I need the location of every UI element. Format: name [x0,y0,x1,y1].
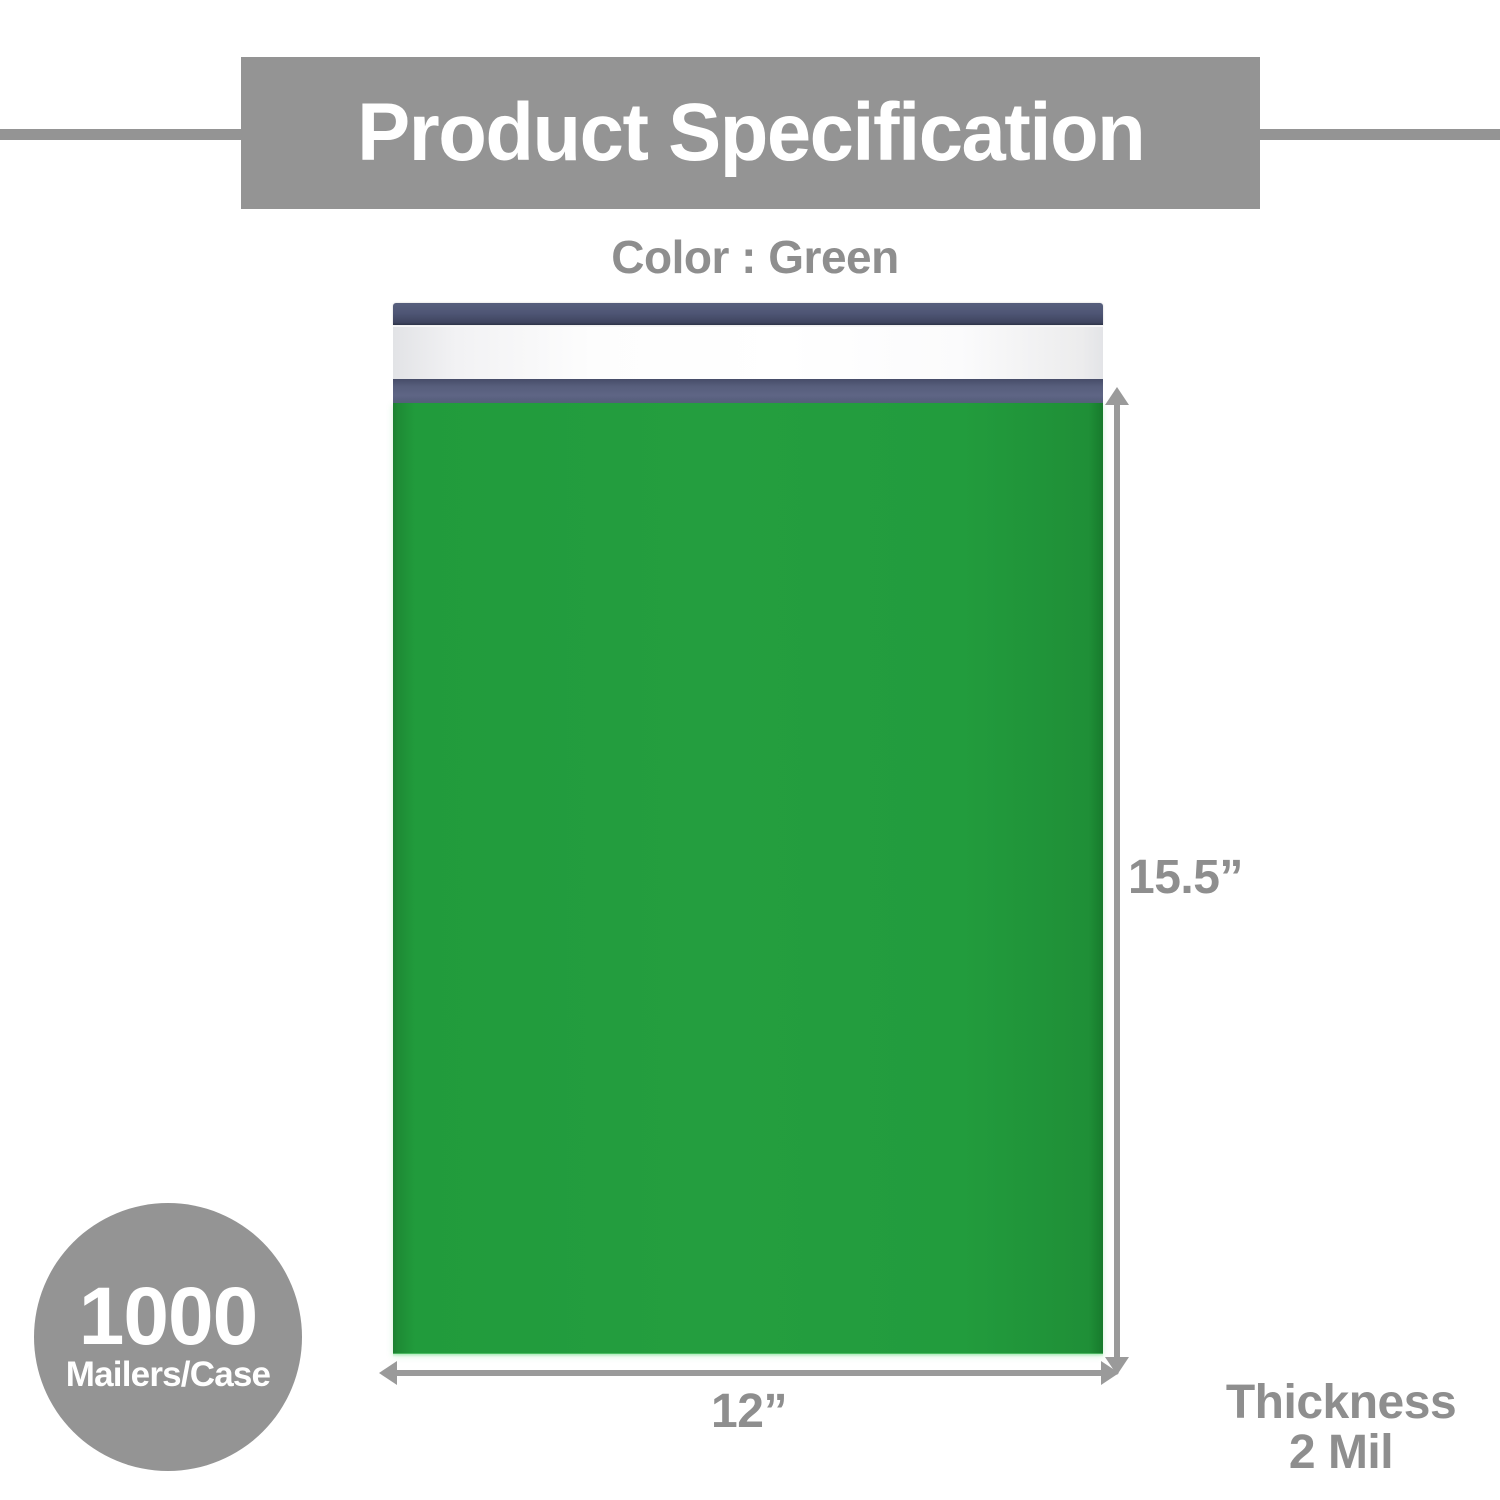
header-rule-left [0,129,245,140]
quantity-badge: 1000 Mailers/Case [34,1203,302,1471]
mailer-flap-top-edge [393,303,1103,325]
poly-mailer-illustration [393,303,1103,1354]
mailer-body [393,403,1103,1354]
header-rule-right [1256,129,1500,140]
mailer-flap-fold [393,379,1103,404]
quantity-unit: Mailers/Case [66,1356,270,1395]
height-dimension-arrow [1114,404,1120,1358]
page-title: Product Specification [357,92,1144,174]
thickness-value: 2 Mil [1182,1428,1500,1478]
header-banner: Product Specification [241,57,1260,209]
height-dimension-label: 15.5” [1128,850,1243,905]
mailer-adhesive-strip [393,326,1103,380]
thickness-label: Thickness [1182,1378,1500,1428]
width-dimension-label: 12” [396,1384,1102,1439]
quantity-count: 1000 [79,1279,257,1354]
width-dimension-arrow [396,1370,1102,1376]
thickness-block: Thickness 2 Mil [1182,1378,1500,1479]
color-label-text: Color : Green [611,231,898,283]
color-label: Color : Green [0,230,1500,284]
